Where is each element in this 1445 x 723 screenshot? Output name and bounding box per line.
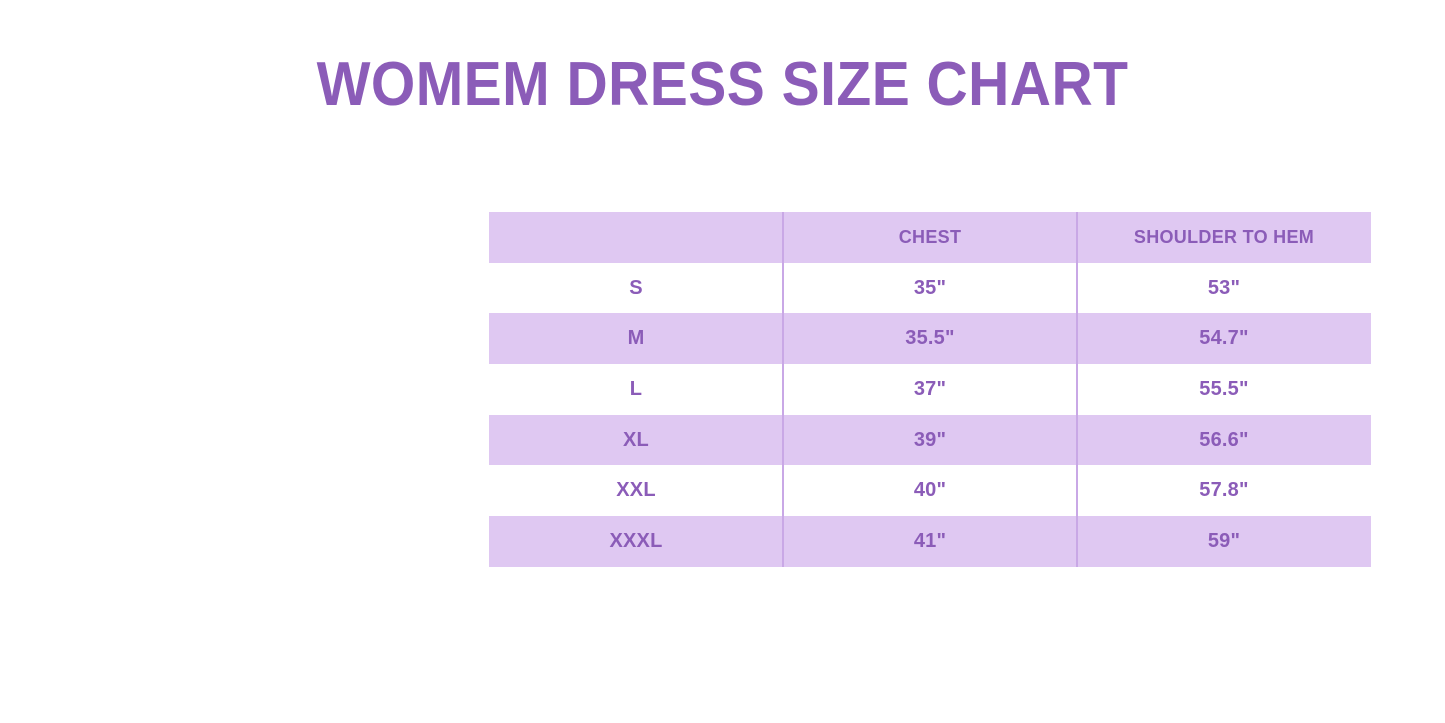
cell-shoulder-to-hem: 54.7": [1077, 313, 1371, 364]
column-header-size: [489, 212, 783, 263]
cell-chest: 35.5": [783, 313, 1077, 364]
table-header-row: CHEST SHOULDER TO HEM: [489, 212, 1371, 263]
table-row: S 35" 53": [489, 263, 1371, 314]
cell-shoulder-to-hem: 56.6": [1077, 415, 1371, 466]
size-chart-table: CHEST SHOULDER TO HEM S 35" 53" M 35.5" …: [489, 212, 1371, 567]
cell-chest: 41": [783, 516, 1077, 567]
cell-size: S: [489, 263, 783, 314]
table-row: M 35.5" 54.7": [489, 313, 1371, 364]
cell-chest: 40": [783, 465, 1077, 516]
cell-shoulder-to-hem: 55.5": [1077, 364, 1371, 415]
cell-size: XXXL: [489, 516, 783, 567]
column-header-shoulder-to-hem: SHOULDER TO HEM: [1077, 212, 1371, 263]
cell-size: L: [489, 364, 783, 415]
page-title: WOMEM DRESS SIZE CHART: [58, 52, 1387, 117]
cell-chest: 37": [783, 364, 1077, 415]
cell-chest: 35": [783, 263, 1077, 314]
cell-size: XL: [489, 415, 783, 466]
table-row: XL 39" 56.6": [489, 415, 1371, 466]
table-body: S 35" 53" M 35.5" 54.7" L 37" 55.5" XL 3…: [489, 263, 1371, 567]
cell-size: XXL: [489, 465, 783, 516]
column-header-chest: CHEST: [783, 212, 1077, 263]
cell-chest: 39": [783, 415, 1077, 466]
size-chart-table-container: CHEST SHOULDER TO HEM S 35" 53" M 35.5" …: [489, 212, 1371, 567]
cell-shoulder-to-hem: 57.8": [1077, 465, 1371, 516]
table-row: XXXL 41" 59": [489, 516, 1371, 567]
table-header: CHEST SHOULDER TO HEM: [489, 212, 1371, 263]
table-row: XXL 40" 57.8": [489, 465, 1371, 516]
cell-size: M: [489, 313, 783, 364]
table-row: L 37" 55.5": [489, 364, 1371, 415]
cell-shoulder-to-hem: 53": [1077, 263, 1371, 314]
cell-shoulder-to-hem: 59": [1077, 516, 1371, 567]
